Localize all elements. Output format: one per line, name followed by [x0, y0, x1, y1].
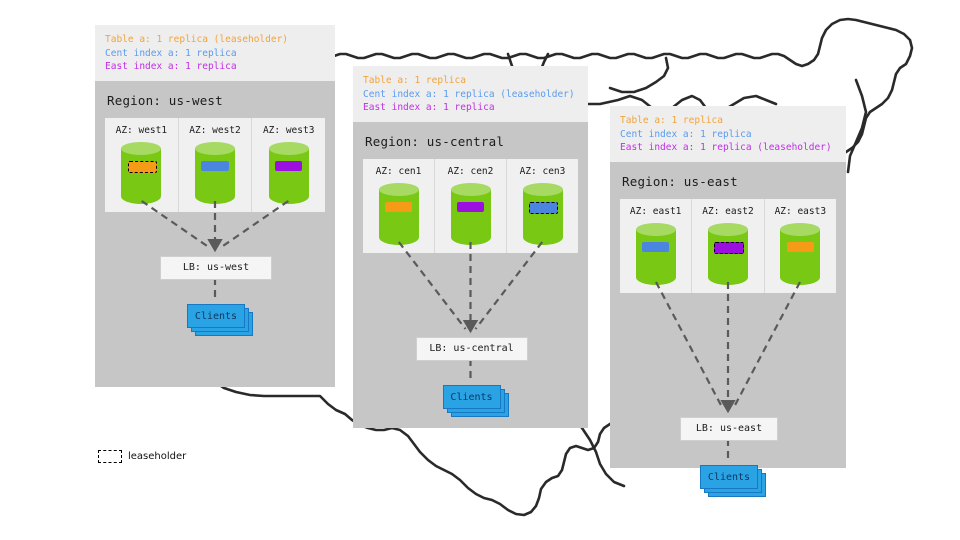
az-cell-cen2[interactable]: AZ: cen2: [435, 159, 507, 253]
replica-line-cent: Cent index a: 1 replica: [105, 47, 325, 61]
clients-us-central[interactable]: Clients: [443, 385, 509, 417]
az-label: AZ: east2: [692, 206, 763, 217]
region-title-us-west: Region: us-west: [95, 81, 335, 118]
cylinder-body: [379, 189, 419, 245]
database-cylinder-icon: [269, 142, 309, 204]
az-cell-west1[interactable]: AZ: west1: [105, 118, 179, 212]
clients-card-front: Clients: [443, 385, 501, 409]
replica-block-blue: [642, 242, 669, 252]
cylinder-top: [708, 223, 748, 236]
replica-block-purple: [275, 161, 302, 171]
clients-card-front: Clients: [700, 465, 758, 489]
az-cell-west3[interactable]: AZ: west3: [252, 118, 325, 212]
replica-line-cent: Cent index a: 1 replica (leaseholder): [363, 88, 578, 102]
replica-line-east: East index a: 1 replica (leaseholder): [620, 141, 836, 155]
legend-label: leaseholder: [128, 451, 186, 462]
database-cylinder-icon: [708, 223, 748, 285]
replica-block-blue-leaseholder: [529, 202, 558, 214]
load-balancer-us-central[interactable]: LB: us-central: [416, 337, 528, 361]
cylinder-body: [195, 148, 235, 204]
az-label: AZ: west3: [252, 125, 325, 136]
az-label: AZ: cen3: [507, 166, 578, 177]
region-title-us-east: Region: us-east: [610, 162, 846, 199]
az-label: AZ: west2: [179, 125, 252, 136]
replica-summary-us-west: Table a: 1 replica (leaseholder)Cent ind…: [95, 25, 335, 81]
az-row-us-east: AZ: east1AZ: east2AZ: east3: [620, 199, 836, 293]
region-panel-us-east: Table a: 1 replicaCent index a: 1 replic…: [610, 106, 846, 468]
replica-block-purple-leaseholder: [714, 242, 743, 254]
clients-card-front: Clients: [187, 304, 245, 328]
cylinder-body: [121, 148, 161, 204]
load-balancer-us-west[interactable]: LB: us-west: [160, 256, 272, 280]
load-balancer-us-east[interactable]: LB: us-east: [680, 417, 778, 441]
replica-line-cent: Cent index a: 1 replica: [620, 128, 836, 142]
cylinder-top: [121, 142, 161, 155]
az-cell-cen1[interactable]: AZ: cen1: [363, 159, 435, 253]
az-cell-east2[interactable]: AZ: east2: [692, 199, 764, 293]
database-cylinder-icon: [451, 183, 491, 245]
cylinder-body: [523, 189, 563, 245]
clients-us-west[interactable]: Clients: [187, 304, 253, 336]
cylinder-top: [269, 142, 309, 155]
diagram-canvas: Table a: 1 replica (leaseholder)Cent ind…: [0, 0, 960, 540]
cylinder-body: [780, 229, 820, 285]
az-label: AZ: east1: [620, 206, 691, 217]
cylinder-body: [636, 229, 676, 285]
az-label: AZ: cen2: [435, 166, 506, 177]
cylinder-top: [379, 183, 419, 196]
az-label: AZ: west1: [105, 125, 178, 136]
leaseholder-swatch-icon: [98, 450, 122, 463]
az-label: AZ: cen1: [363, 166, 434, 177]
database-cylinder-icon: [636, 223, 676, 285]
database-cylinder-icon: [195, 142, 235, 204]
cylinder-top: [780, 223, 820, 236]
replica-block-orange: [385, 202, 412, 212]
az-row-us-west: AZ: west1AZ: west2AZ: west3: [105, 118, 325, 212]
region-title-us-central: Region: us-central: [353, 122, 588, 159]
az-cell-west2[interactable]: AZ: west2: [179, 118, 253, 212]
replica-block-purple: [457, 202, 484, 212]
cylinder-top: [195, 142, 235, 155]
legend: leaseholder: [98, 450, 186, 463]
replica-line-table: Table a: 1 replica (leaseholder): [105, 33, 325, 47]
cylinder-top: [523, 183, 563, 196]
az-label: AZ: east3: [765, 206, 836, 217]
az-cell-cen3[interactable]: AZ: cen3: [507, 159, 578, 253]
region-body-us-west: Region: us-westAZ: west1AZ: west2AZ: wes…: [95, 81, 335, 387]
az-row-us-central: AZ: cen1AZ: cen2AZ: cen3: [363, 159, 578, 253]
cylinder-top: [636, 223, 676, 236]
cylinder-body: [269, 148, 309, 204]
cylinder-top: [451, 183, 491, 196]
database-cylinder-icon: [121, 142, 161, 204]
database-cylinder-icon: [523, 183, 563, 245]
clients-us-east[interactable]: Clients: [700, 465, 766, 497]
az-cell-east3[interactable]: AZ: east3: [765, 199, 836, 293]
replica-line-table: Table a: 1 replica: [363, 74, 578, 88]
replica-block-orange: [787, 242, 814, 252]
az-cell-east1[interactable]: AZ: east1: [620, 199, 692, 293]
replica-block-orange-leaseholder: [128, 161, 157, 173]
cylinder-body: [708, 229, 748, 285]
region-body-us-central: Region: us-centralAZ: cen1AZ: cen2AZ: ce…: [353, 122, 588, 428]
replica-summary-us-central: Table a: 1 replicaCent index a: 1 replic…: [353, 66, 588, 122]
cylinder-body: [451, 189, 491, 245]
database-cylinder-icon: [780, 223, 820, 285]
replica-line-table: Table a: 1 replica: [620, 114, 836, 128]
replica-summary-us-east: Table a: 1 replicaCent index a: 1 replic…: [610, 106, 846, 162]
replica-line-east: East index a: 1 replica: [105, 60, 325, 74]
database-cylinder-icon: [379, 183, 419, 245]
replica-block-blue: [201, 161, 228, 171]
replica-line-east: East index a: 1 replica: [363, 101, 578, 115]
region-panel-us-central: Table a: 1 replicaCent index a: 1 replic…: [353, 66, 588, 428]
